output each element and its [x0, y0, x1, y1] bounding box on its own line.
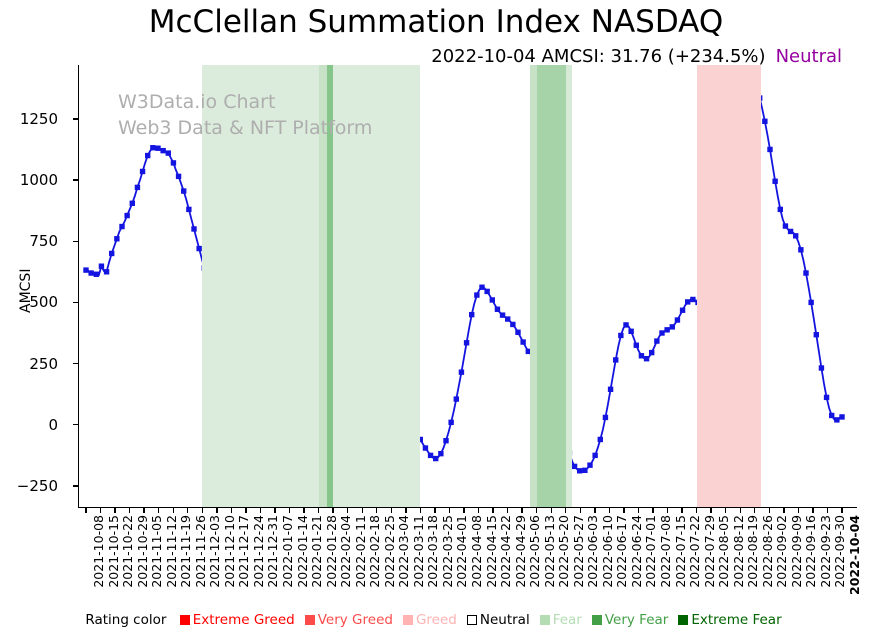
data-point-marker [772, 179, 777, 184]
x-tick-mark [754, 508, 755, 513]
x-tick-label: 2022-07-22 [687, 515, 702, 588]
y-tick-mark [73, 118, 78, 119]
legend-item-label: Extreme Greed [193, 612, 295, 628]
x-tick-label: 2022-02-18 [367, 515, 382, 588]
data-point-marker [469, 312, 474, 317]
x-tick-label: 2022-03-04 [396, 515, 411, 588]
legend-item-label: Greed [416, 612, 457, 628]
data-point-marker [618, 333, 623, 338]
data-point-marker [479, 285, 484, 290]
x-tick-label: 2022-03-18 [425, 515, 440, 588]
data-point-marker [155, 146, 160, 151]
x-tick-label: 2021-12-24 [251, 515, 266, 588]
data-point-marker [767, 147, 772, 152]
x-tick-mark [420, 508, 421, 513]
legend-item-label: Extreme Fear [691, 612, 781, 628]
data-point-marker [191, 226, 196, 231]
data-point-marker [623, 322, 628, 327]
data-point-marker [824, 395, 829, 400]
data-point-marker [515, 330, 520, 335]
x-tick-mark [129, 508, 130, 513]
x-tick-mark [100, 508, 101, 513]
x-tick-label: 2022-05-20 [556, 515, 571, 588]
x-tick-mark [492, 508, 493, 513]
y-tick-label: −250 [0, 477, 70, 495]
x-tick-label: 2022-08-12 [731, 515, 746, 588]
subtitle-value: 2022-10-04 AMCSI: 31.76 (+234.5%) [431, 46, 765, 67]
x-tick-label: 2021-10-29 [135, 515, 150, 588]
data-point-marker [520, 339, 525, 344]
data-point-marker [664, 327, 669, 332]
chart-subtitle: 2022-10-04 AMCSI: 31.76 (+234.5%)Neutral [0, 46, 872, 67]
x-tick-label: 2022-01-21 [309, 515, 324, 588]
chart-page: McClellan Summation Index NASDAQ 2022-10… [0, 0, 872, 641]
data-point-marker [114, 236, 119, 241]
x-tick-label: 2022-08-26 [760, 515, 775, 588]
legend-title: Rating color [85, 612, 170, 628]
x-tick-label: 2022-05-13 [542, 515, 557, 588]
y-tick-label: 750 [0, 232, 70, 250]
y-axis-line [78, 65, 79, 508]
page-title: McClellan Summation Index NASDAQ [0, 4, 872, 40]
data-point-marker [644, 356, 649, 361]
data-point-marker [423, 445, 428, 450]
y-tick-label: 250 [0, 355, 70, 373]
x-tick-mark [318, 508, 319, 513]
x-tick-label: 2022-03-25 [440, 515, 455, 588]
data-point-marker [145, 153, 150, 158]
data-point-marker [788, 229, 793, 234]
x-tick-label: 2022-07-15 [673, 515, 688, 588]
x-tick-label: 2021-11-05 [149, 515, 164, 588]
data-point-marker [572, 464, 577, 469]
data-point-marker [88, 270, 93, 275]
x-tick-label: 2022-01-07 [280, 515, 295, 588]
data-point-marker [500, 312, 505, 317]
x-tick-label: 2022-05-06 [527, 515, 542, 588]
x-tick-label: 2022-08-05 [716, 515, 731, 588]
x-tick-mark [536, 508, 537, 513]
x-tick-label: 2021-11-19 [178, 515, 193, 588]
data-point-marker [171, 160, 176, 165]
x-tick-label: 2022-04-08 [469, 515, 484, 588]
x-tick-mark [667, 508, 668, 513]
y-tick-label: 500 [0, 293, 70, 311]
y-tick-mark [73, 363, 78, 364]
data-point-marker [484, 289, 489, 294]
x-tick-label: 2022-06-24 [629, 515, 644, 588]
x-tick-mark [202, 508, 203, 513]
x-tick-label: 2021-10-22 [120, 515, 135, 588]
rating-band-fear [319, 65, 327, 508]
data-point-marker [186, 207, 191, 212]
y-axis-title: AMCSI [18, 268, 34, 312]
x-tick-mark [274, 508, 275, 513]
x-tick-mark [231, 508, 232, 513]
x-tick-mark [376, 508, 377, 513]
legend-swatch-icon [403, 615, 413, 625]
x-tick-mark [391, 508, 392, 513]
data-point-marker [490, 297, 495, 302]
x-tick-mark [638, 508, 639, 513]
y-tick-mark [73, 179, 78, 180]
x-tick-label: 2021-11-26 [193, 515, 208, 588]
data-point-marker [495, 307, 500, 312]
data-point-marker [592, 453, 597, 458]
rating-band-fear [566, 65, 572, 508]
x-tick-label: 2022-09-30 [832, 515, 847, 588]
data-point-marker [834, 417, 839, 422]
x-tick-mark [551, 508, 552, 513]
x-tick-mark [434, 508, 435, 513]
y-tick-mark [73, 241, 78, 242]
x-tick-label: 2022-06-10 [600, 515, 615, 588]
legend-item-greed: Greed [403, 612, 457, 628]
data-point-marker [613, 357, 618, 362]
legend-swatch-icon [467, 615, 477, 625]
x-tick-mark [303, 508, 304, 513]
data-point-marker [762, 119, 767, 124]
legend-item-label: Very Greed [318, 612, 393, 628]
legend-swatch-icon [592, 615, 602, 625]
x-tick-label: 2021-12-10 [222, 515, 237, 588]
data-point-marker [649, 350, 654, 355]
y-tick-label: 1000 [0, 171, 70, 189]
data-point-marker [150, 145, 155, 150]
data-point-marker [428, 453, 433, 458]
rating-band-greed [697, 65, 761, 508]
x-tick-label: 2022-07-08 [658, 515, 673, 588]
x-tick-mark [565, 508, 566, 513]
data-point-marker [839, 414, 844, 419]
x-tick-label: 2022-10-04 [847, 515, 862, 595]
x-tick-label: 2021-12-03 [207, 515, 222, 588]
x-tick-label: 2022-02-11 [353, 515, 368, 588]
x-tick-mark [769, 508, 770, 513]
data-point-marker [819, 365, 824, 370]
data-point-marker [783, 223, 788, 228]
data-point-marker [124, 213, 129, 218]
x-tick-mark [260, 508, 261, 513]
legend: Rating color Extreme GreedVery GreedGree… [0, 612, 872, 628]
legend-swatch-icon [540, 615, 550, 625]
x-tick-mark [332, 508, 333, 513]
data-point-marker [433, 456, 438, 461]
x-tick-label: 2021-12-31 [265, 515, 280, 588]
data-point-marker [119, 224, 124, 229]
x-tick-mark [405, 508, 406, 513]
legend-item-extreme-greed: Extreme Greed [180, 612, 295, 628]
x-tick-mark [623, 508, 624, 513]
data-point-marker [793, 233, 798, 238]
x-tick-label: 2021-10-15 [106, 515, 121, 588]
x-tick-mark [347, 508, 348, 513]
x-tick-mark [85, 508, 86, 513]
x-tick-mark [245, 508, 246, 513]
x-tick-mark [783, 508, 784, 513]
x-tick-mark [187, 508, 188, 513]
x-tick-label: 2022-02-04 [338, 515, 353, 588]
y-tick-mark [73, 424, 78, 425]
x-tick-label: 2022-07-29 [702, 515, 717, 588]
data-point-marker [798, 247, 803, 252]
data-point-marker [690, 297, 695, 302]
data-point-marker [803, 270, 808, 275]
data-point-marker [474, 292, 479, 297]
x-tick-mark [158, 508, 159, 513]
legend-swatch-icon [180, 615, 190, 625]
x-tick-label: 2022-04-29 [513, 515, 528, 588]
data-point-marker [140, 169, 145, 174]
rating-band-fear [202, 65, 420, 508]
data-point-marker [675, 317, 680, 322]
data-point-marker [670, 324, 675, 329]
x-tick-label: 2022-04-01 [454, 515, 469, 588]
x-tick-label: 2022-04-22 [498, 515, 513, 588]
data-point-marker [166, 150, 171, 155]
data-point-marker [582, 468, 587, 473]
x-tick-mark [812, 508, 813, 513]
legend-item-fear: Fear [540, 612, 582, 628]
legend-swatch-icon [305, 615, 315, 625]
plot-frame: W3Data.io Chart Web3 Data & NFT Platform [78, 65, 856, 508]
x-tick-label: 2022-04-15 [484, 515, 499, 588]
x-tick-mark [521, 508, 522, 513]
data-point-marker [104, 269, 109, 274]
x-tick-mark [841, 508, 842, 513]
legend-swatch-icon [678, 615, 688, 625]
y-tick-label: 1250 [0, 110, 70, 128]
data-point-marker [459, 369, 464, 374]
data-point-marker [639, 353, 644, 358]
x-tick-mark [725, 508, 726, 513]
data-point-marker [654, 338, 659, 343]
data-point-marker [438, 451, 443, 456]
data-point-marker [454, 396, 459, 401]
data-point-marker [685, 299, 690, 304]
x-tick-mark [609, 508, 610, 513]
x-tick-mark [216, 508, 217, 513]
data-point-marker [94, 272, 99, 277]
x-tick-label: 2022-01-28 [324, 515, 339, 588]
rating-band-very-fear [537, 65, 566, 508]
x-tick-mark [114, 508, 115, 513]
x-tick-label: 2022-01-14 [295, 515, 310, 588]
legend-item-very-greed: Very Greed [305, 612, 393, 628]
x-tick-label: 2022-07-01 [643, 515, 658, 588]
x-tick-label: 2022-09-09 [789, 515, 804, 588]
x-tick-mark [449, 508, 450, 513]
data-point-marker [659, 330, 664, 335]
x-tick-label: 2022-05-27 [571, 515, 586, 588]
x-tick-mark [594, 508, 595, 513]
data-point-marker [443, 438, 448, 443]
legend-item-extreme-fear: Extreme Fear [678, 612, 781, 628]
data-point-marker [130, 201, 135, 206]
status-badge: Neutral [766, 46, 842, 67]
x-tick-label: 2021-11-12 [164, 515, 179, 588]
data-point-marker [603, 415, 608, 420]
y-tick-mark [73, 485, 78, 486]
x-tick-label: 2022-02-25 [382, 515, 397, 588]
x-tick-mark [696, 508, 697, 513]
data-point-marker [634, 343, 639, 348]
x-tick-mark [652, 508, 653, 513]
x-tick-mark [173, 508, 174, 513]
y-tick-label: 0 [0, 416, 70, 434]
x-tick-mark [478, 508, 479, 513]
x-tick-mark [507, 508, 508, 513]
x-tick-label: 2022-08-19 [745, 515, 760, 588]
legend-item-very-fear: Very Fear [592, 612, 668, 628]
x-tick-label: 2022-09-02 [774, 515, 789, 588]
rating-band-very-fear [327, 65, 333, 508]
x-tick-label: 2022-09-16 [803, 515, 818, 588]
data-point-marker [464, 340, 469, 345]
x-tick-label: 2021-12-17 [236, 515, 251, 588]
data-point-marker [628, 329, 633, 334]
data-point-marker [196, 246, 201, 251]
x-tick-label: 2022-03-11 [411, 515, 426, 588]
x-tick-mark [362, 508, 363, 513]
x-tick-mark [827, 508, 828, 513]
x-tick-mark [710, 508, 711, 513]
data-point-marker [829, 413, 834, 418]
legend-item-label: Fear [553, 612, 582, 628]
x-tick-label: 2022-06-17 [614, 515, 629, 588]
data-point-marker [814, 332, 819, 337]
y-tick-mark [73, 302, 78, 303]
data-point-marker [778, 207, 783, 212]
data-point-marker [109, 251, 114, 256]
data-point-marker [176, 174, 181, 179]
data-point-marker [510, 322, 515, 327]
x-tick-mark [798, 508, 799, 513]
data-point-marker [587, 462, 592, 467]
x-tick-label: 2022-06-03 [585, 515, 600, 588]
data-point-marker [135, 185, 140, 190]
data-point-marker [680, 308, 685, 313]
data-point-marker [99, 263, 104, 268]
x-tick-mark [463, 508, 464, 513]
data-point-marker [608, 387, 613, 392]
x-tick-mark [740, 508, 741, 513]
data-point-marker [808, 300, 813, 305]
data-point-marker [577, 468, 582, 473]
x-tick-mark [143, 508, 144, 513]
data-point-marker [505, 316, 510, 321]
data-point-marker [83, 267, 88, 272]
data-point-marker [160, 148, 165, 153]
x-tick-mark [580, 508, 581, 513]
x-tick-mark [289, 508, 290, 513]
x-tick-label: 2022-09-23 [818, 515, 833, 588]
x-tick-mark [681, 508, 682, 513]
legend-item-neutral: Neutral [467, 612, 530, 628]
data-point-marker [598, 437, 603, 442]
legend-item-label: Very Fear [605, 612, 668, 628]
x-tick-label: 2021-10-08 [91, 515, 106, 588]
data-point-marker [448, 420, 453, 425]
data-point-marker [181, 188, 186, 193]
plot-area: W3Data.io Chart Web3 Data & NFT Platform [78, 65, 856, 508]
legend-item-label: Neutral [480, 612, 530, 628]
